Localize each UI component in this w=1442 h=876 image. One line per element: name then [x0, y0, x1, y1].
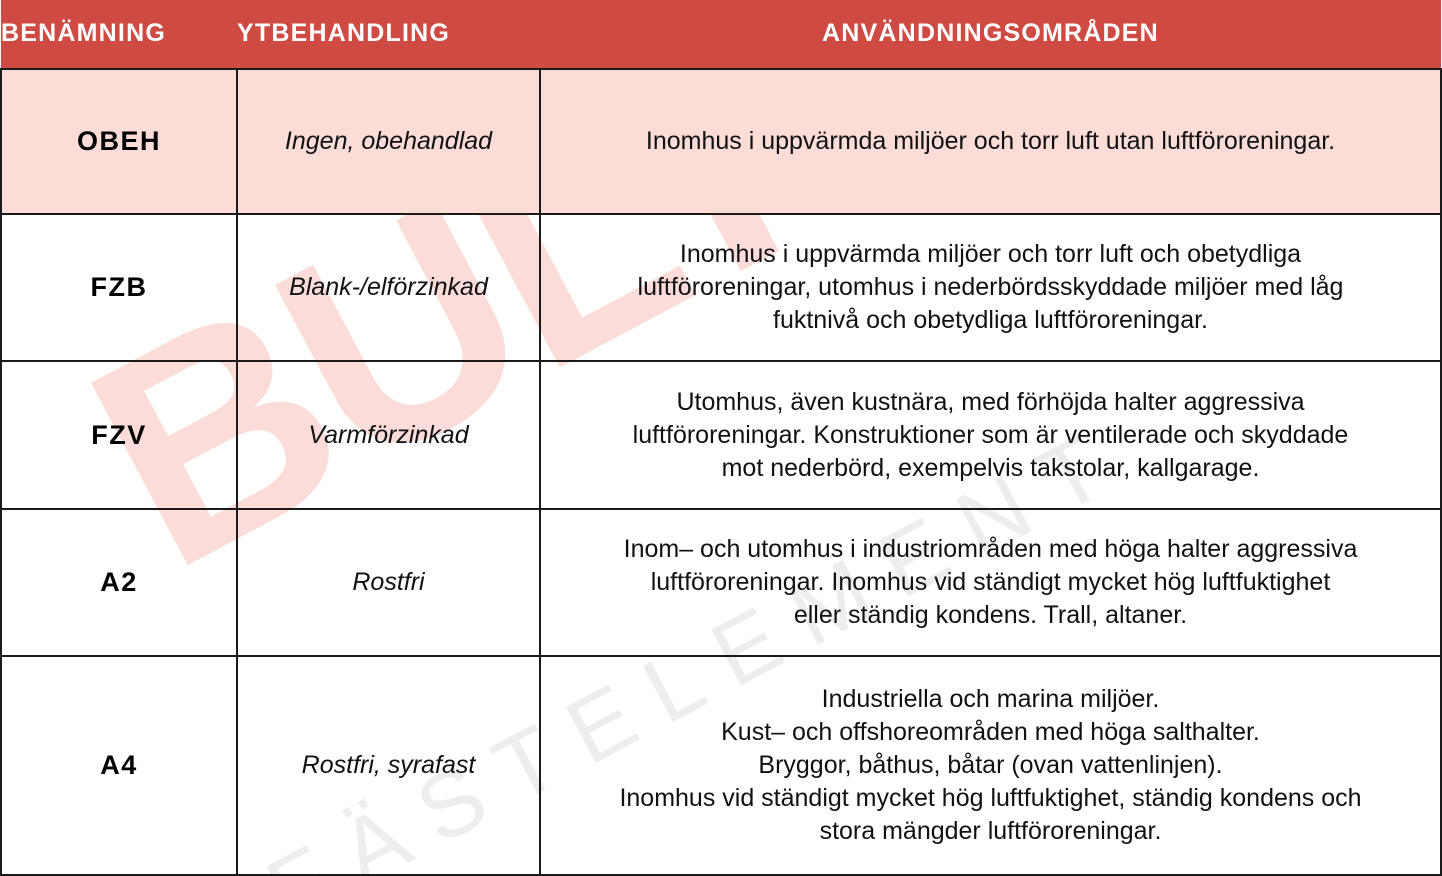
table-body: OBEH Ingen, obehandlad Inomhus i uppvärm… [1, 69, 1441, 875]
table-row: A4 Rostfri, syrafast Industriella och ma… [1, 656, 1441, 875]
table-row: FZB Blank-/elförzinkad Inomhus i uppvärm… [1, 214, 1441, 361]
cell-uses: Utomhus, även kustnära, med förhöjda hal… [540, 361, 1441, 509]
cell-uses-line: Bryggor, båthus, båtar (ovan vattenlinje… [557, 749, 1424, 782]
cell-uses-line: Inom– och utomhus i industriområden med … [557, 533, 1424, 566]
cell-code: A2 [1, 509, 237, 656]
table-row: OBEH Ingen, obehandlad Inomhus i uppvärm… [1, 69, 1441, 214]
cell-uses: Inomhus i uppvärmda miljöer och torr luf… [540, 69, 1441, 214]
table-header-row: BENÄMNING YTBEHANDLING ANVÄNDNINGSOMRÅDE… [1, 0, 1441, 69]
cell-code: FZV [1, 361, 237, 509]
cell-surface: Rostfri, syrafast [237, 656, 540, 875]
cell-code: OBEH [1, 69, 237, 214]
column-header-anvandningsomraden: ANVÄNDNINGSOMRÅDEN [540, 0, 1441, 69]
column-header-benamning: BENÄMNING [1, 0, 237, 69]
cell-uses-line: Utomhus, även kustnära, med förhöjda hal… [557, 386, 1424, 419]
column-header-ytbehandling: YTBEHANDLING [237, 0, 540, 69]
cell-surface: Ingen, obehandlad [237, 69, 540, 214]
cell-uses-line: Kust– och offshoreområden med höga salth… [557, 716, 1424, 749]
cell-uses-line: Inomhus i uppvärmda miljöer och torr luf… [557, 125, 1424, 158]
cell-uses-line: mot nederbörd, exempelvis takstolar, kal… [557, 452, 1424, 485]
cell-uses: Industriella och marina miljöer.Kust– oc… [540, 656, 1441, 875]
cell-code: A4 [1, 656, 237, 875]
cell-uses-line: stora mängder luftföroreningar. [557, 815, 1424, 848]
table-row: FZV Varmförzinkad Utomhus, även kustnära… [1, 361, 1441, 509]
cell-uses: Inomhus i uppvärmda miljöer och torr luf… [540, 214, 1441, 361]
cell-surface: Rostfri [237, 509, 540, 656]
cell-uses-line: Inomhus vid ständigt mycket hög luftfukt… [557, 782, 1424, 815]
cell-uses-line: Industriella och marina miljöer. [557, 683, 1424, 716]
table-row: A2 Rostfri Inom– och utomhus i industrio… [1, 509, 1441, 656]
cell-uses-line: luftföroreningar. Konstruktioner som är … [557, 419, 1424, 452]
cell-uses-line: luftföroreningar, utomhus i nederbördssk… [557, 271, 1424, 304]
cell-uses-line: luftföroreningar. Inomhus vid ständigt m… [557, 566, 1424, 599]
cell-surface: Blank-/elförzinkad [237, 214, 540, 361]
cell-uses-line: Inomhus i uppvärmda miljöer och torr luf… [557, 238, 1424, 271]
cell-uses: Inom– och utomhus i industriområden med … [540, 509, 1441, 656]
cell-uses-line: eller ständig kondens. Trall, altaner. [557, 599, 1424, 632]
table-header: BENÄMNING YTBEHANDLING ANVÄNDNINGSOMRÅDE… [1, 0, 1441, 69]
cell-code: FZB [1, 214, 237, 361]
surface-treatment-table: BENÄMNING YTBEHANDLING ANVÄNDNINGSOMRÅDE… [0, 0, 1442, 876]
surface-treatment-table-page: BULT AB FÄSTELEMENT BENÄMNING YTBEHANDLI… [0, 0, 1442, 876]
cell-surface: Varmförzinkad [237, 361, 540, 509]
cell-uses-line: fuktnivå och obetydliga luftföroreningar… [557, 304, 1424, 337]
